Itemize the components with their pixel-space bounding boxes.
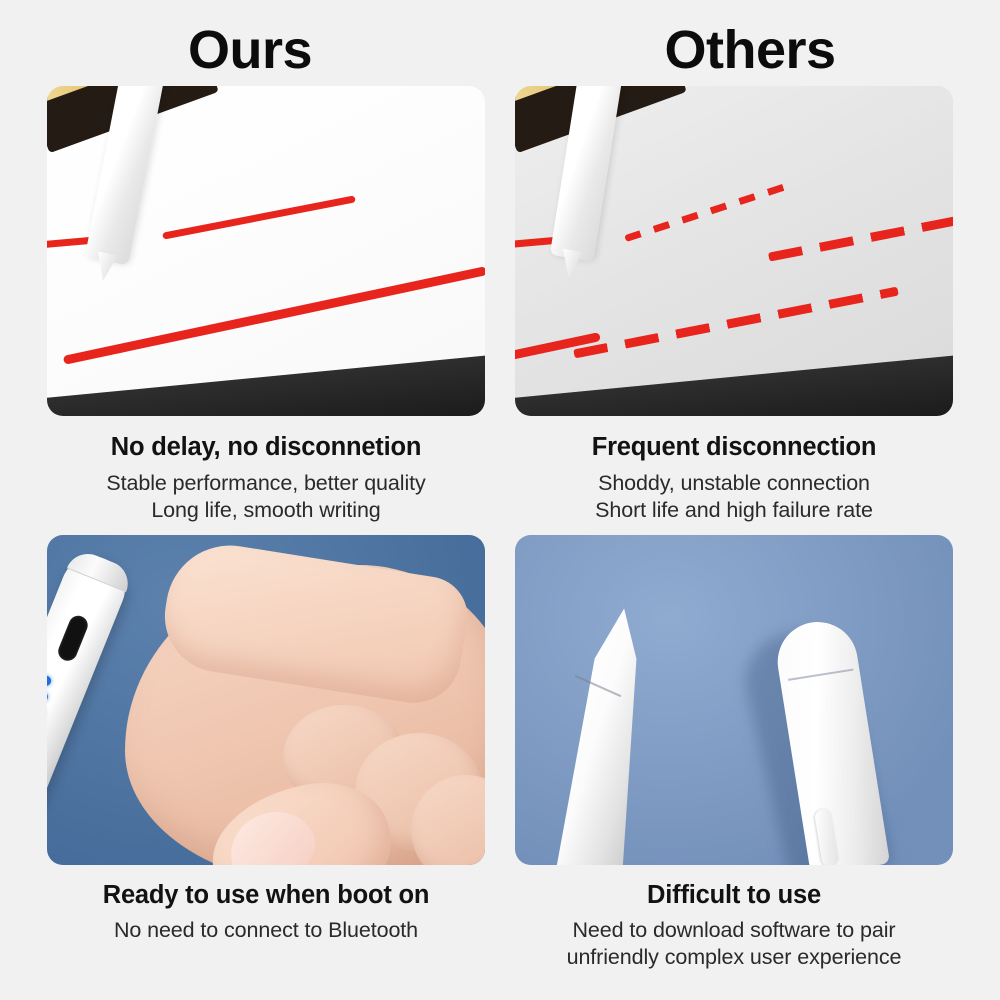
caption-line-1: Stable performance, better quality	[47, 470, 485, 497]
block-ours-writing: No delay, no disconnetion Stable perform…	[47, 86, 485, 535]
hand	[125, 565, 485, 865]
caption-line-2: Short life and high failure rate	[515, 497, 953, 524]
page-title-others: Others	[664, 23, 835, 77]
comparison-grid: No delay, no disconnetion Stable perform…	[47, 86, 953, 982]
tablet-scene-smooth	[47, 86, 485, 416]
caption-subtext: No need to connect to Bluetooth	[47, 917, 485, 944]
caption-title: Frequent disconnection	[515, 433, 953, 463]
caption-line-1: Shoddy, unstable connection	[515, 470, 953, 497]
tablet-scene-broken	[515, 86, 953, 416]
block-others-pairing: Difficult to use Need to download softwa…	[515, 535, 953, 983]
caption-line-2: Long life, smooth writing	[47, 497, 485, 524]
caption-subtext: Need to download software to pair unfrie…	[515, 917, 953, 971]
caption-others-pairing: Difficult to use Need to download softwa…	[515, 865, 953, 972]
block-others-writing: Frequent disconnection Shoddy, unstable …	[515, 86, 953, 535]
photo-ours-writing	[47, 86, 485, 416]
stylus-side-button	[814, 807, 840, 864]
usb-c-port	[55, 612, 90, 663]
caption-ours-writing: No delay, no disconnetion Stable perform…	[47, 416, 485, 524]
column-headers: Ours Others	[0, 14, 1000, 86]
caption-title: Difficult to use	[515, 881, 953, 911]
battery-led-1	[47, 674, 53, 687]
caption-line-1: Need to download software to pair	[515, 917, 953, 944]
stylus-cap-seam	[788, 668, 854, 680]
header-cell-ours: Ours	[0, 14, 500, 86]
comparison-infographic: Ours Others	[0, 0, 1000, 1000]
caption-subtext: Stable performance, better quality Long …	[47, 470, 485, 524]
page-title-ours: Ours	[188, 23, 312, 77]
photo-others-writing	[515, 86, 953, 416]
caption-title: Ready to use when boot on	[47, 881, 485, 911]
caption-line-1: No need to connect to Bluetooth	[47, 917, 485, 944]
photo-others-pairing	[515, 535, 953, 865]
battery-led-2	[47, 690, 49, 703]
caption-ours-boot: Ready to use when boot on No need to con…	[47, 865, 485, 945]
block-ours-boot: Ready to use when boot on No need to con…	[47, 535, 485, 983]
caption-subtext: Shoddy, unstable connection Short life a…	[515, 470, 953, 524]
caption-others-writing: Frequent disconnection Shoddy, unstable …	[515, 416, 953, 524]
caption-line-2: unfriendly complex user experience	[515, 944, 953, 971]
header-cell-others: Others	[500, 14, 1000, 86]
caption-title: No delay, no disconnetion	[47, 433, 485, 463]
photo-ours-boot	[47, 535, 485, 865]
